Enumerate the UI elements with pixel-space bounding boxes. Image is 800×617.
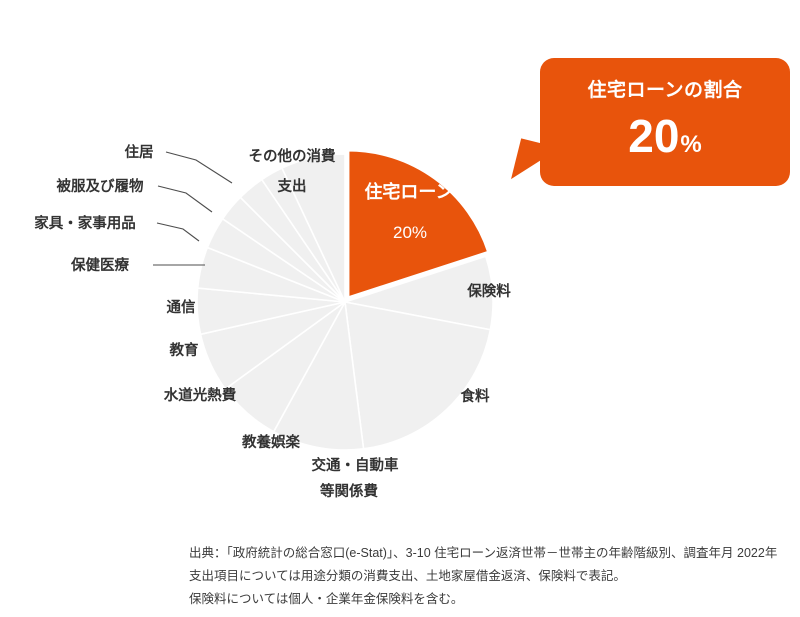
slice-label-other-line1: その他の消費 <box>249 147 336 165</box>
leader-line <box>158 186 212 212</box>
slice-label-furniture: 家具・家事用品 <box>34 214 136 232</box>
footnote-line-2: 支出項目については用途分類の消費支出、土地家屋借金返済、保険料で表記。 <box>189 565 789 588</box>
footnote-line-3: 保険料については個人・企業年金保険料を含む。 <box>189 588 789 611</box>
callout-number: 20 <box>628 113 679 159</box>
callout-title: 住宅ローンの割合 <box>540 80 790 103</box>
leader-line <box>157 223 199 241</box>
callout-value: 20 % <box>540 113 790 159</box>
footnote-line-1: 出典：「政府統計の総合窓口(e-Stat)」、3-10 住宅ローン返済世帯－世帯… <box>189 542 789 565</box>
slice-label-housing: 住居 <box>125 143 154 161</box>
slice-label-clothing: 被服及び履物 <box>57 177 144 195</box>
slice-label-housing-loan: 住宅ローン <box>364 181 453 202</box>
footnote-source: 出典：「政府統計の総合窓口(e-Stat)」、3-10 住宅ローン返済世帯－世帯… <box>189 542 789 611</box>
slice-label-education: 教育 <box>169 341 199 359</box>
slice-label-transport-line2: 等関係費 <box>320 482 378 500</box>
slice-label-communication: 通信 <box>167 298 196 316</box>
callout-percent-sign: % <box>680 133 701 157</box>
slice-label-transport-line1: 交通・自動車 <box>312 456 399 474</box>
slice-label-culture: 教養娯楽 <box>241 433 300 451</box>
pie-chart-infographic: 住宅ローン 20% 保険料 食料 交通・自動車 等関係費 教養娯楽 水道光熱費 … <box>0 0 800 617</box>
slice-label-insurance: 保険料 <box>466 282 511 300</box>
slice-label-other-line2: 支出 <box>278 177 307 195</box>
leader-line <box>166 152 232 183</box>
slice-label-food: 食料 <box>461 387 490 405</box>
callout-box: 住宅ローンの割合 20 % <box>540 58 790 186</box>
slice-label-utilities: 水道光熱費 <box>164 386 237 404</box>
slice-value-housing-loan: 20% <box>393 223 427 242</box>
slice-label-medical: 保健医療 <box>70 256 129 274</box>
